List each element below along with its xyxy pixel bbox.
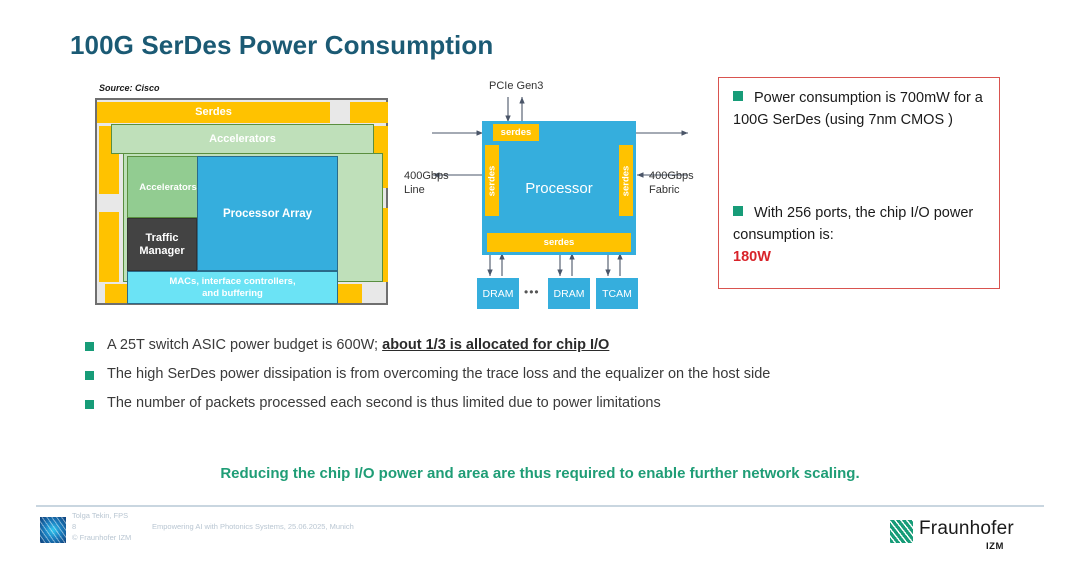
bullet-list: A 25T switch ASIC power budget is 600W; …: [85, 336, 1025, 423]
block-memory-ellipsis: •••: [524, 285, 540, 299]
source-label: Source: Cisco: [99, 83, 160, 93]
footer-author: Tolga Tekin, FPS: [72, 511, 128, 520]
footer-page-number: 8: [72, 522, 76, 531]
square-bullet-icon: [733, 91, 743, 101]
block-memory-dram-1: DRAM: [477, 278, 519, 309]
block-fabric-label: 400GbpsFabric: [649, 170, 694, 198]
block-serdes-right-label: serdes: [621, 165, 632, 196]
list-item: The number of packets processed each sec…: [85, 394, 1025, 413]
square-bullet-icon: [85, 400, 94, 409]
block-pcie-label: PCIe Gen3: [489, 80, 543, 94]
power-callout-box: Power consumption is 700mW for a 100G Se…: [718, 77, 1000, 289]
callout-item-1-text: Power consumption is 700mW for a 100G Se…: [733, 90, 983, 128]
block-serdes-top: serdes: [493, 124, 539, 141]
square-bullet-icon: [85, 371, 94, 380]
list-item: A 25T switch ASIC power budget is 600W; …: [85, 336, 1025, 355]
asic-serdes-label: Serdes: [97, 103, 330, 122]
fraunhofer-mark-icon: [890, 520, 913, 543]
asic-floorplan-diagram: Serdes Accelerators Accelerators Traffic…: [95, 98, 388, 305]
footer-divider: [36, 505, 1044, 507]
callout-item-1: Power consumption is 700mW for a 100G Se…: [733, 88, 991, 132]
summary-statement: Reducing the chip I/O power and area are…: [0, 465, 1080, 482]
callout-item-2: With 256 ports, the chip I/O power consu…: [733, 203, 991, 268]
footer-copyright: © Fraunhofer IZM: [72, 533, 131, 542]
fraunhofer-logo-institute: IZM: [986, 541, 1004, 552]
slide-canvas: 100G SerDes Power Consumption Source: Ci…: [0, 0, 1080, 568]
asic-macs-block: MACs, interface controllers,and bufferin…: [127, 271, 338, 304]
list-item-text: A 25T switch ASIC power budget is 600W; …: [107, 336, 609, 355]
block-memory-dram-2: DRAM: [548, 278, 590, 309]
asic-accelerators-band: Accelerators: [111, 124, 374, 154]
block-serdes-left: serdes: [485, 145, 499, 216]
list-item-text: The high SerDes power dissipation is fro…: [107, 365, 770, 384]
list-item-text-plain: A 25T switch ASIC power budget is 600W;: [107, 337, 382, 353]
page-title: 100G SerDes Power Consumption: [70, 30, 493, 61]
asic-traffic-manager-block: TrafficManager: [127, 218, 197, 271]
institute-badge-icon: [40, 517, 66, 543]
square-bullet-icon: [85, 342, 94, 351]
block-serdes-bottom: serdes: [487, 233, 631, 252]
block-serdes-right: serdes: [619, 145, 633, 216]
fraunhofer-logo-name: Fraunhofer: [919, 518, 1014, 540]
list-item: The high SerDes power dissipation is fro…: [85, 365, 1025, 384]
block-serdes-left-label: serdes: [487, 165, 498, 196]
callout-power-value: 180W: [733, 247, 991, 269]
asic-accelerators-band-label: Accelerators: [112, 125, 373, 153]
switch-block-diagram: Processor serdes serdes serdes serdes PC…: [400, 80, 710, 315]
footer-event: Empowering AI with Photonics Systems, 25…: [152, 522, 354, 531]
asic-accelerators-block-label: Accelerators: [128, 157, 208, 217]
block-memory-tcam: TCAM: [596, 278, 638, 309]
serdes-ring-segment-top-2: [350, 102, 388, 123]
list-item-text: The number of packets processed each sec…: [107, 394, 661, 413]
list-item-text-emphasis: about 1/3 is allocated for chip I/O: [382, 337, 609, 353]
serdes-ring-segment-left-2: [99, 212, 119, 282]
square-bullet-icon: [733, 206, 743, 216]
block-line-label: 400GbpsLine: [404, 170, 449, 198]
asic-processor-array-block: Processor Array: [197, 156, 338, 271]
fraunhofer-logo: Fraunhofer IZM: [890, 518, 1010, 556]
callout-item-2-text: With 256 ports, the chip I/O power consu…: [733, 205, 973, 243]
